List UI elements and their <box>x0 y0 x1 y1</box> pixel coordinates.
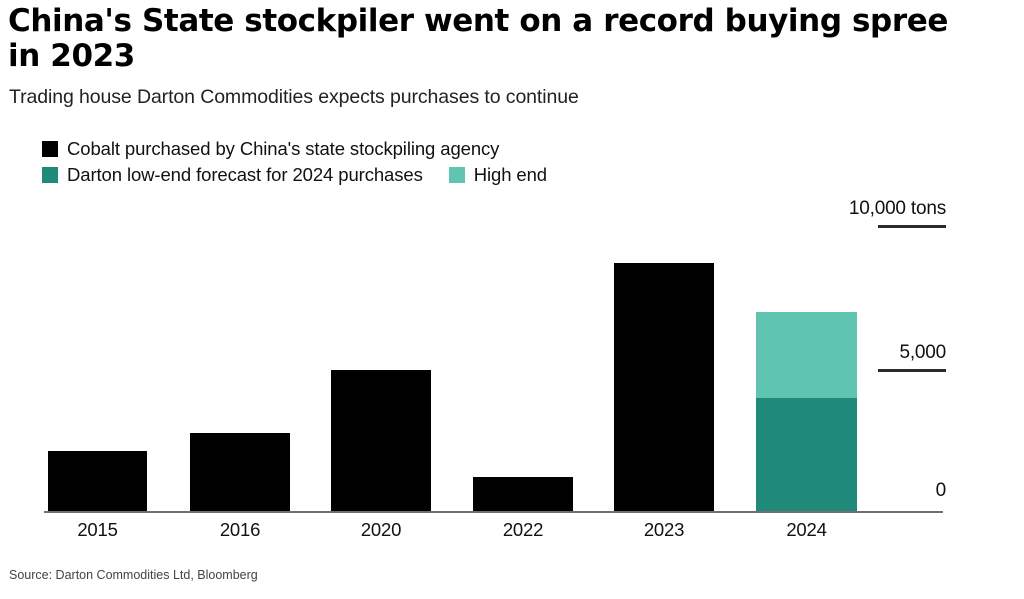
x-axis-baseline <box>44 511 943 513</box>
x-axis-label-2022: 2022 <box>473 519 573 541</box>
bar-2022[interactable] <box>473 477 573 512</box>
bar-segment-cobalt <box>331 370 431 512</box>
y-tick-rule-10000 <box>878 225 946 228</box>
x-axis-label-2023: 2023 <box>614 519 714 541</box>
x-axis-label-2016: 2016 <box>190 519 290 541</box>
x-axis-label-2020: 2020 <box>331 519 431 541</box>
bar-segment-cobalt <box>190 433 290 512</box>
source-note: Source: Darton Commodities Ltd, Bloomber… <box>9 568 258 582</box>
y-tick-rule-5000 <box>878 369 946 372</box>
bar-2020[interactable] <box>331 370 431 512</box>
bar-segment-low-end <box>756 398 857 512</box>
x-axis-label-2015: 2015 <box>48 519 147 541</box>
y-tick-label-10000: 10,000 tons <box>786 198 946 220</box>
bar-2016[interactable] <box>190 433 290 512</box>
plot-area: 10,000 tons 5,000 0 <box>0 0 1024 599</box>
bar-segment-cobalt <box>614 263 714 512</box>
bar-segment-high-end <box>756 312 857 398</box>
y-tick-10000: 10,000 tons <box>786 198 946 228</box>
bar-segment-cobalt <box>473 477 573 512</box>
chart-container: China's State stockpiler went on a recor… <box>0 0 1024 599</box>
x-axis-label-2024: 2024 <box>756 519 857 541</box>
bar-segment-cobalt <box>48 451 147 512</box>
bar-2023[interactable] <box>614 263 714 512</box>
bar-2015[interactable] <box>48 451 147 512</box>
bar-2024[interactable] <box>756 312 857 512</box>
